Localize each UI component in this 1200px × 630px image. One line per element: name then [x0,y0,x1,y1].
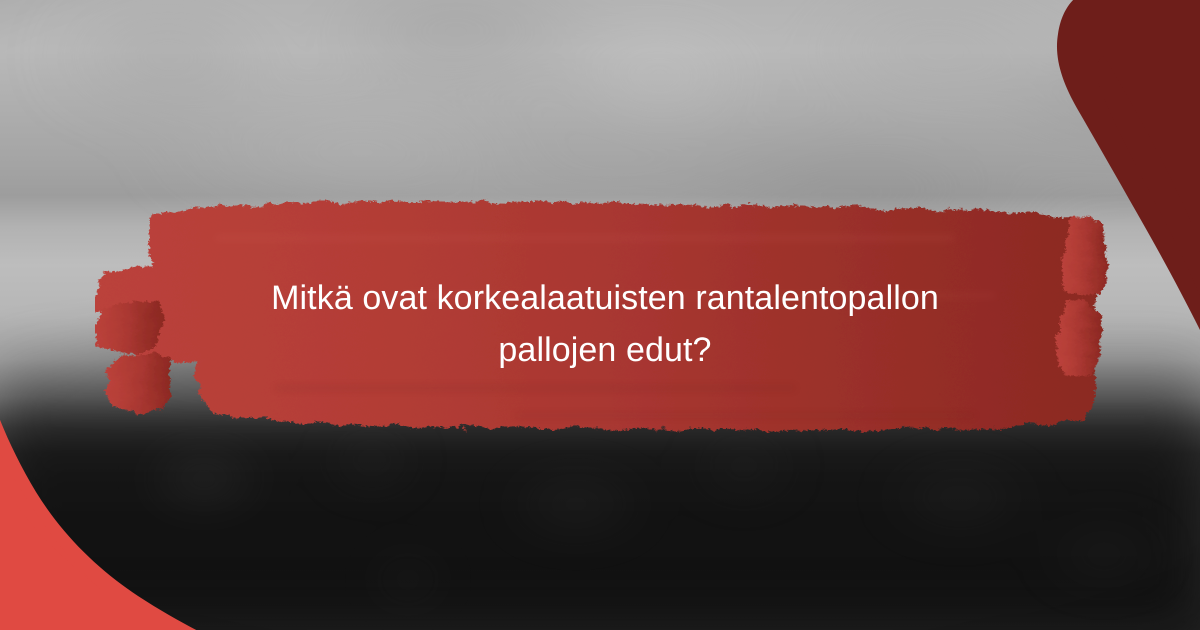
headline-text: Mitkä ovat korkealaatuisten rantalentopa… [150,272,1060,376]
share-card: Mitkä ovat korkealaatuisten rantalentopa… [0,0,1200,630]
